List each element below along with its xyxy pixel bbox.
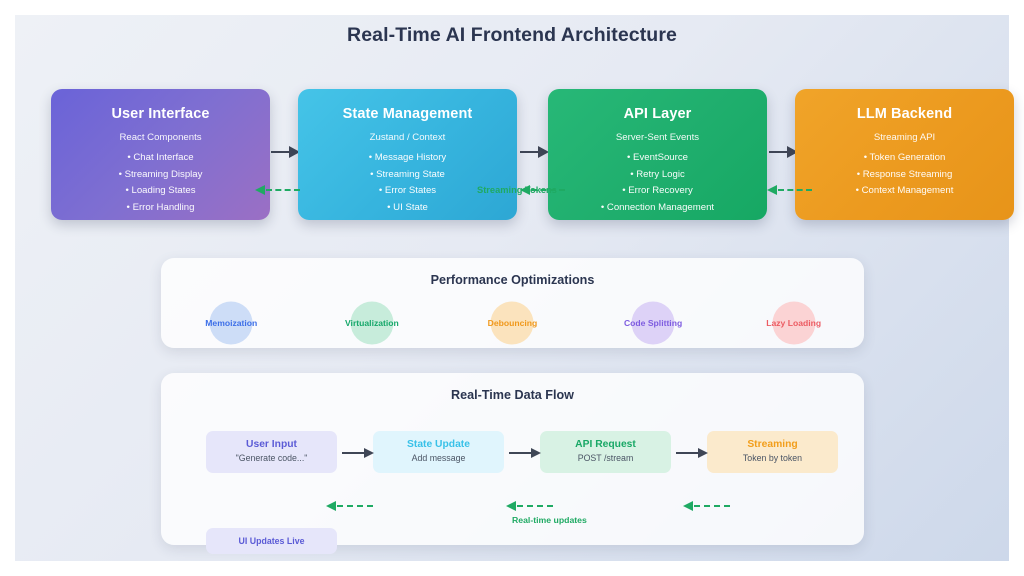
realtime-updates-label: Real-time updates: [512, 515, 587, 525]
arrow-line: [769, 151, 789, 153]
arrow-head: [698, 448, 708, 458]
arrow-dashed-line: [517, 505, 553, 507]
arrow-line: [676, 452, 700, 454]
arrow-dashed-line: [778, 189, 812, 191]
card-item: • Context Management: [795, 183, 1014, 200]
optimization-item-virtualization[interactable]: Virtualization: [312, 300, 432, 346]
optimization-item-debouncing[interactable]: Debouncing: [452, 300, 572, 346]
arrow-dashed-line: [266, 189, 300, 191]
card-item: • Response Streaming: [795, 167, 1014, 184]
status-badge-ui-updates-live[interactable]: UI Updates Live: [206, 528, 337, 554]
flow-step-subtitle: "Generate code...": [206, 452, 337, 465]
optimization-list: Memoization Virtualization Debouncing Co…: [161, 300, 864, 346]
card-item: • Error Recovery: [548, 183, 767, 200]
card-item: • Streaming Display: [51, 167, 270, 184]
arrow-head: [364, 448, 374, 458]
arrow-line: [271, 151, 291, 153]
card-title: User Interface: [51, 106, 270, 122]
flow-step-user-input[interactable]: User Input "Generate code...": [206, 431, 337, 473]
arrow-head: [767, 185, 777, 195]
optimization-label: Memoization: [205, 318, 257, 328]
diagram-canvas: Real-Time AI Frontend Architecture User …: [15, 15, 1009, 561]
flow-step-subtitle: POST /stream: [540, 452, 671, 465]
arrow-line: [520, 151, 540, 153]
arrow-head: [531, 448, 541, 458]
optimization-item-lazy-loading[interactable]: Lazy Loading: [734, 300, 854, 346]
arrow-line: [509, 452, 533, 454]
card-title: API Layer: [548, 106, 767, 122]
optimization-label: Debouncing: [488, 318, 538, 328]
realtime-data-flow-panel: Real-Time Data Flow User Input "Generate…: [161, 373, 864, 545]
card-item: • Token Generation: [795, 150, 1014, 167]
card-item: • Connection Management: [548, 200, 767, 217]
card-subtitle: Streaming API: [795, 132, 1014, 143]
flow-step-title: API Request: [540, 438, 671, 451]
card-item: • Streaming State: [298, 167, 517, 184]
card-item: • Message History: [298, 150, 517, 167]
flow-step-title: User Input: [206, 438, 337, 451]
card-item: • UI State: [298, 200, 517, 217]
flow-step-streaming[interactable]: Streaming Token by token: [707, 431, 838, 473]
optimization-item-code-splitting[interactable]: Code Splitting: [593, 300, 713, 346]
arrow-head: [683, 501, 693, 511]
architecture-card-user-interface[interactable]: User Interface React Components • Chat I…: [51, 89, 270, 220]
card-item: • Error Handling: [51, 200, 270, 217]
panel-title: Real-Time Data Flow: [161, 388, 864, 402]
card-title: State Management: [298, 106, 517, 122]
performance-optimizations-panel: Performance Optimizations Memoization Vi…: [161, 258, 864, 348]
flow-step-title: Streaming: [707, 438, 838, 451]
architecture-card-llm-backend[interactable]: LLM Backend Streaming API • Token Genera…: [795, 89, 1014, 220]
card-subtitle: Server-Sent Events: [548, 132, 767, 143]
card-item: • EventSource: [548, 150, 767, 167]
page-title: Real-Time AI Frontend Architecture: [15, 24, 1009, 47]
card-item: • Retry Logic: [548, 167, 767, 184]
architecture-card-state-management[interactable]: State Management Zustand / Context • Mes…: [298, 89, 517, 220]
card-item: • Chat Interface: [51, 150, 270, 167]
streaming-tokens-label: Streaming Tokens: [477, 185, 557, 195]
optimization-label: Virtualization: [345, 318, 399, 328]
optimization-label: Lazy Loading: [766, 318, 821, 328]
flow-step-api-request[interactable]: API Request POST /stream: [540, 431, 671, 473]
arrow-line: [342, 452, 366, 454]
card-subtitle: Zustand / Context: [298, 132, 517, 143]
card-subtitle: React Components: [51, 132, 270, 143]
arrow-head: [326, 501, 336, 511]
panel-title: Performance Optimizations: [161, 273, 864, 287]
arrow-head: [506, 501, 516, 511]
flow-step-subtitle: Token by token: [707, 452, 838, 465]
optimization-label: Code Splitting: [624, 318, 682, 328]
arrow-dashed-line: [337, 505, 373, 507]
arrow-head: [255, 185, 265, 195]
flow-step-state-update[interactable]: State Update Add message: [373, 431, 504, 473]
optimization-item-memoization[interactable]: Memoization: [171, 300, 291, 346]
flow-step-title: State Update: [373, 438, 504, 451]
card-item: • Loading States: [51, 183, 270, 200]
architecture-card-api-layer[interactable]: API Layer Server-Sent Events • EventSour…: [548, 89, 767, 220]
arrow-dashed-line: [694, 505, 730, 507]
card-title: LLM Backend: [795, 106, 1014, 122]
flow-step-subtitle: Add message: [373, 452, 504, 465]
